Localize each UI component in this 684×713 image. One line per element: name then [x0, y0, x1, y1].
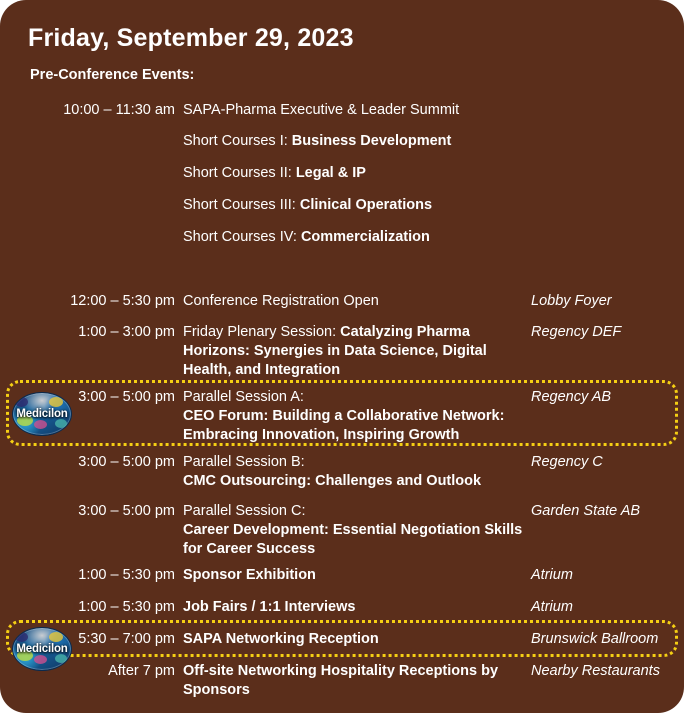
row-time: 12:00 – 5:30 pm [40, 292, 175, 311]
row-title: Conference Registration Open [183, 292, 523, 311]
row-title-plain: Parallel Session C: [183, 503, 306, 519]
medicilon-logo-text: Medicilon [13, 408, 71, 420]
row-title-bold: CMC Outsourcing: Challenges and Outlook [183, 473, 481, 489]
row-title-plain: Short Courses II: [183, 165, 296, 181]
row-title-bold: Legal & IP [296, 165, 366, 181]
logo-blob [15, 632, 28, 642]
row-time: 3:00 – 5:00 pm [40, 388, 175, 407]
row-title-bold: Commercialization [301, 229, 430, 245]
row-time: 3:00 – 5:00 pm [40, 453, 175, 472]
row-title-bold: Business Development [292, 133, 452, 149]
row-time: 1:00 – 5:30 pm [40, 598, 175, 617]
row-location: Regency DEF [531, 323, 681, 342]
row-title-bold: CEO Forum: Building a Collaborative Netw… [183, 408, 504, 443]
row-location: Brunswick Ballroom [531, 630, 681, 649]
row-title-bold: Job Fairs / 1:1 Interviews [183, 599, 355, 615]
logo-blob [55, 419, 67, 428]
row-title-plain: Parallel Session B: [183, 454, 305, 470]
row-title: Off-site Networking Hospitality Receptio… [183, 662, 523, 700]
row-time: 1:00 – 5:30 pm [40, 566, 175, 585]
row-location: Nearby Restaurants [531, 662, 681, 681]
row-title: Parallel Session C:Career Development: E… [183, 502, 523, 559]
row-location: Regency C [531, 453, 681, 472]
row-location: Atrium [531, 566, 681, 585]
row-title: Short Courses II: Legal & IP [183, 164, 523, 183]
page-title: Friday, September 29, 2023 [28, 24, 354, 53]
row-title: Short Courses III: Clinical Operations [183, 196, 523, 215]
row-title-bold: Career Development: Essential Negotiatio… [183, 522, 522, 557]
row-title: Job Fairs / 1:1 Interviews [183, 598, 523, 617]
row-title: Friday Plenary Session: Catalyzing Pharm… [183, 323, 523, 380]
row-title-bold: Sponsor Exhibition [183, 567, 316, 583]
row-location: Atrium [531, 598, 681, 617]
row-title: SAPA Networking Reception [183, 630, 523, 649]
row-title-plain: Short Courses III: [183, 197, 300, 213]
row-title: SAPA-Pharma Executive & Leader Summit [183, 101, 523, 120]
row-title: Sponsor Exhibition [183, 566, 523, 585]
row-title: Short Courses I: Business Development [183, 132, 523, 151]
row-location: Regency AB [531, 388, 681, 407]
row-time: 3:00 – 5:00 pm [40, 502, 175, 521]
row-location: Lobby Foyer [531, 292, 681, 311]
row-title-plain: Short Courses I: [183, 133, 292, 149]
logo-blob [15, 397, 28, 407]
row-title: Parallel Session A:CEO Forum: Building a… [183, 388, 523, 445]
agenda-card: Friday, September 29, 2023 Pre-Conferenc… [0, 0, 684, 713]
row-time: 1:00 – 3:00 pm [40, 323, 175, 342]
row-title-bold: Clinical Operations [300, 197, 432, 213]
row-time: 5:30 – 7:00 pm [40, 630, 175, 649]
row-title-plain: Conference Registration Open [183, 293, 379, 309]
section-label-pre-conference: Pre-Conference Events: [30, 67, 194, 83]
row-title-bold: SAPA Networking Reception [183, 631, 379, 647]
row-title-plain: Parallel Session A: [183, 389, 304, 405]
row-title: Short Courses IV: Commercialization [183, 228, 523, 247]
row-title-bold: Off-site Networking Hospitality Receptio… [183, 663, 498, 698]
row-title-plain: SAPA-Pharma Executive & Leader Summit [183, 102, 459, 118]
row-time: After 7 pm [40, 662, 175, 681]
row-title: Parallel Session B:CMC Outsourcing: Chal… [183, 453, 523, 491]
row-title-plain: Friday Plenary Session: [183, 324, 340, 340]
row-location: Garden State AB [531, 502, 681, 521]
row-title-plain: Short Courses IV: [183, 229, 301, 245]
row-time: 10:00 – 11:30 am [40, 101, 175, 120]
logo-blob [34, 420, 47, 429]
